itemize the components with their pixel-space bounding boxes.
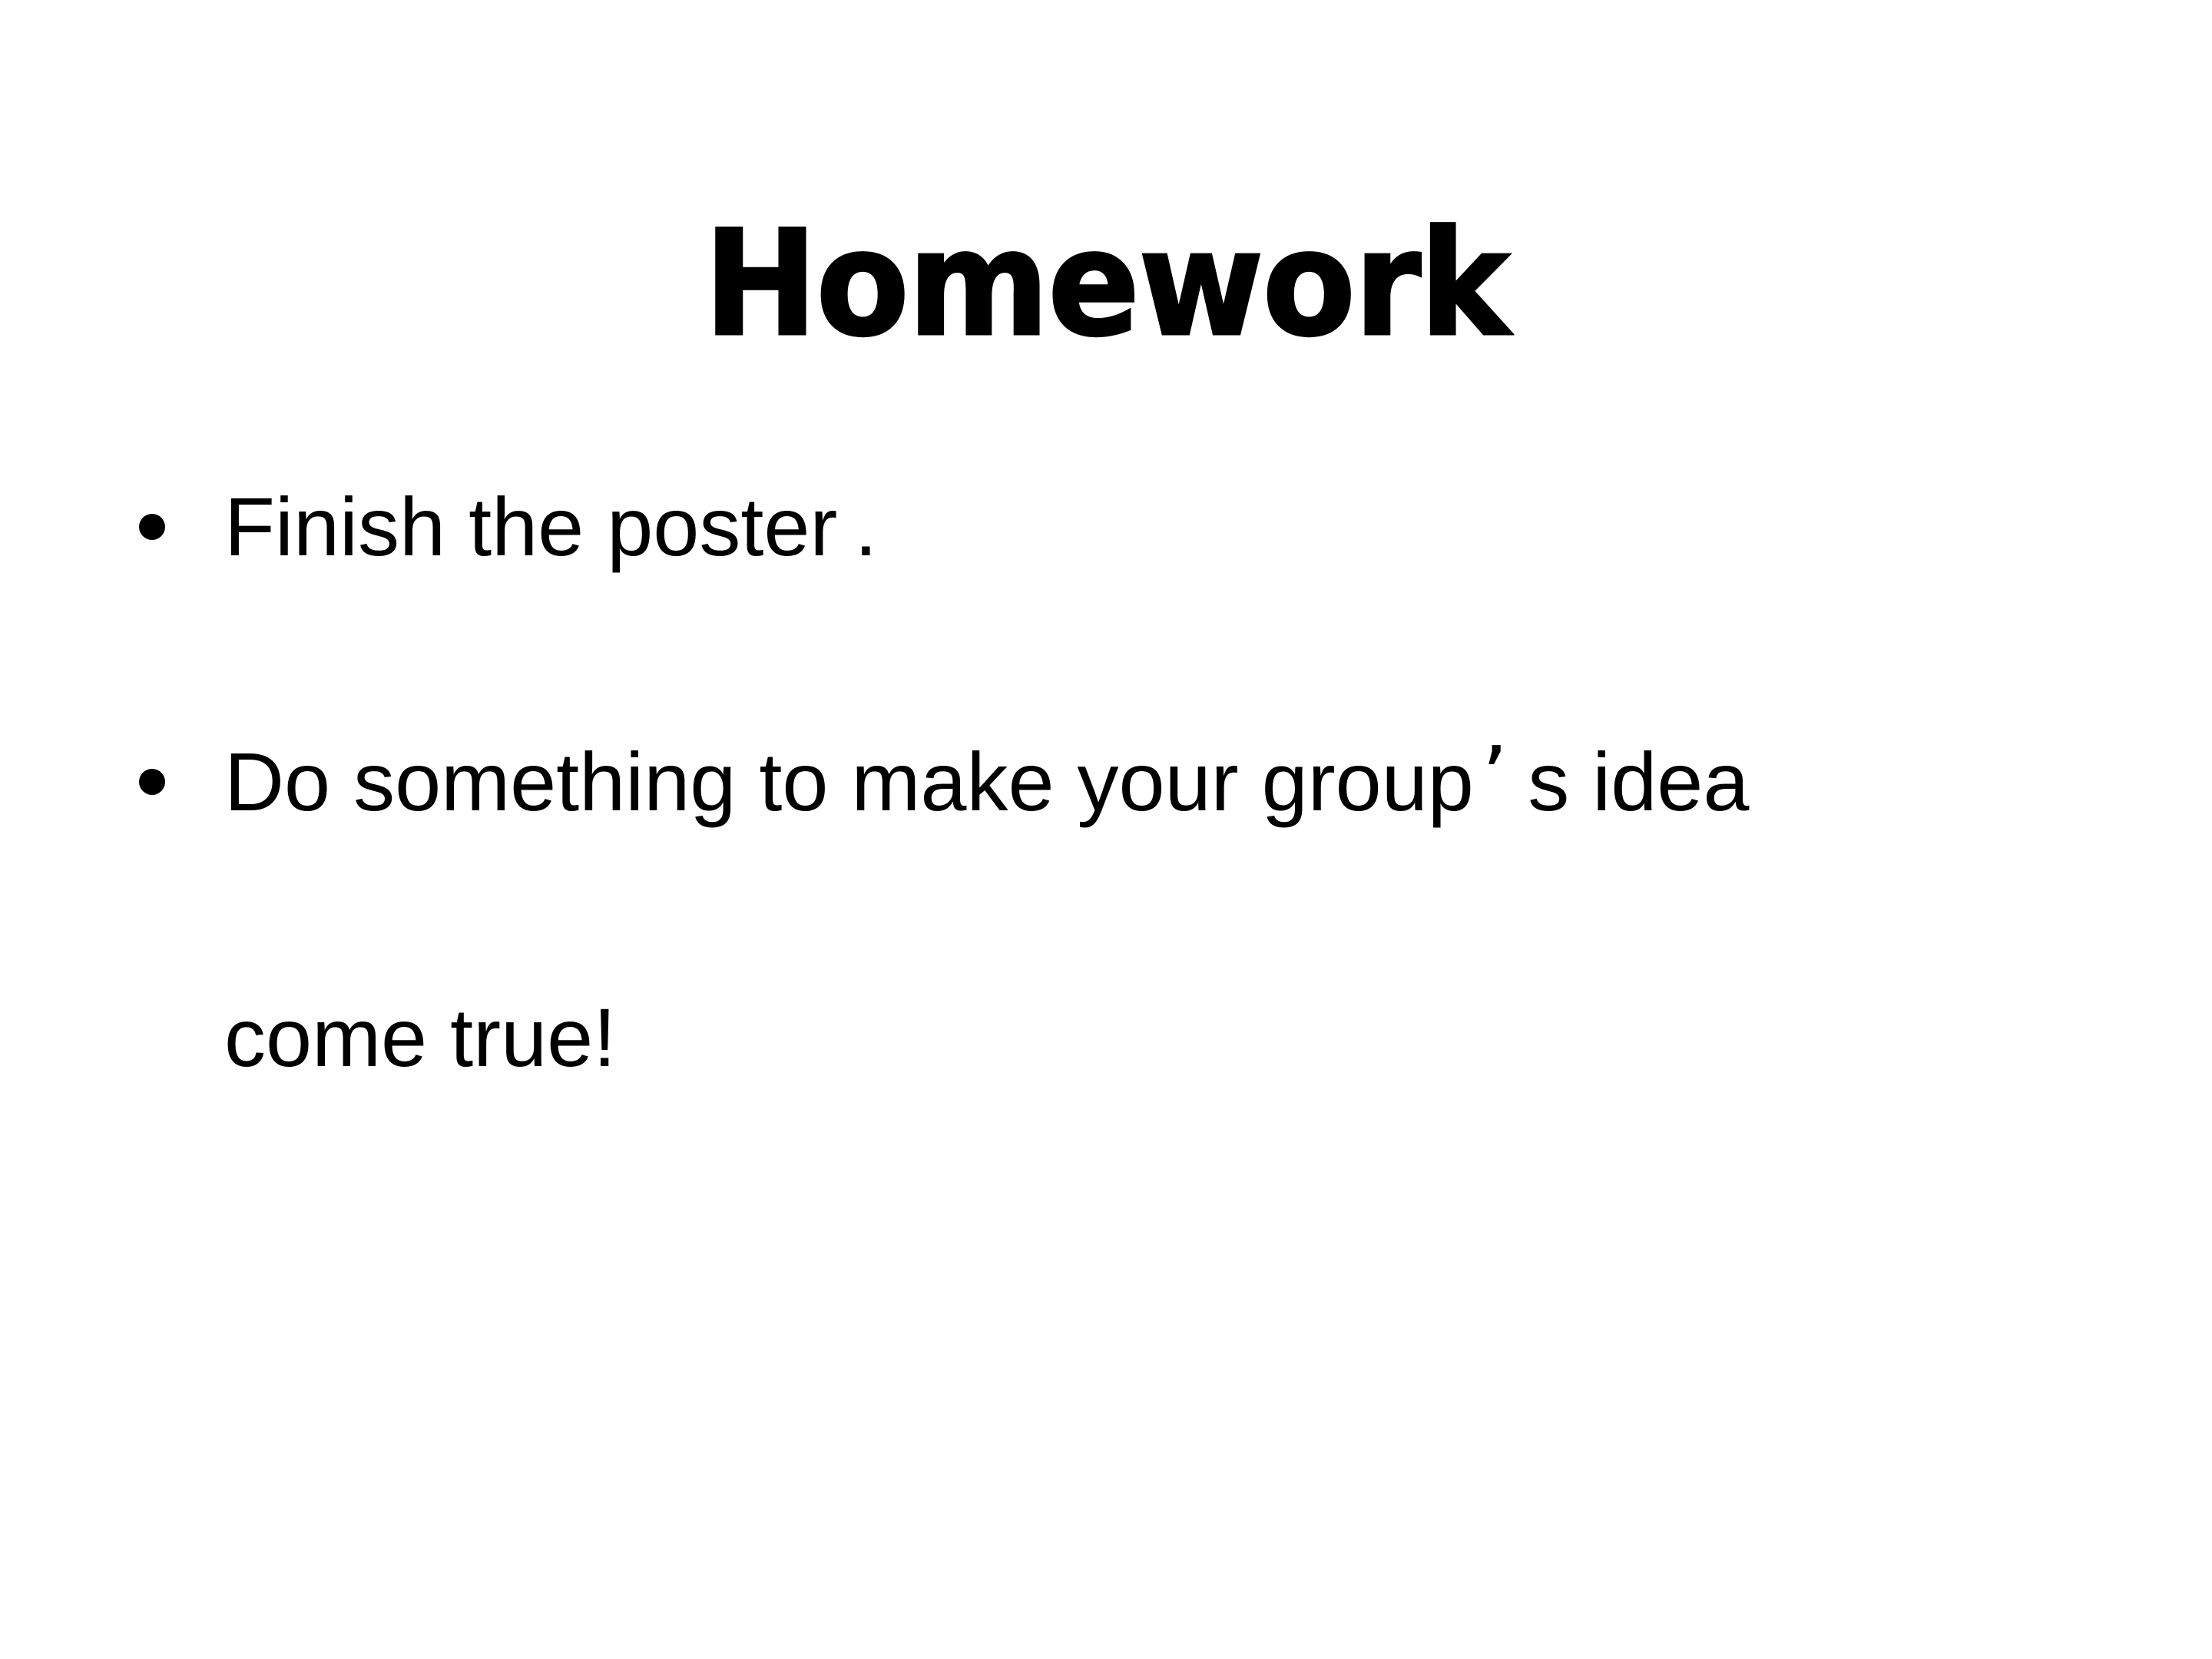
list-item-continuation: come true!: [0, 910, 2212, 1165]
list-item-period: .: [854, 480, 877, 573]
presentation-slide: Homework Finish the poster. Do something…: [0, 0, 2212, 1659]
list-item-text: Do something to make your group’s idea: [224, 735, 1749, 828]
list-item: Do something to make your group’s idea: [0, 654, 2212, 910]
list-item-text: come true!: [224, 991, 616, 1084]
apostrophe-glyph: ’: [1474, 730, 1528, 826]
list-item-text-part: Do something to make your group: [224, 735, 1474, 828]
list-item: Finish the poster.: [0, 399, 2212, 654]
content-placeholder: Finish the poster. Do something to make …: [0, 399, 2212, 1165]
list-item-text: Finish the poster.: [224, 480, 877, 573]
list-item-text-part: s idea: [1528, 735, 1749, 828]
bullet-dot-icon: [139, 654, 165, 909]
page-title: Homework: [704, 211, 1508, 357]
list-item-text-part: Finish the poster: [224, 480, 837, 573]
bullet-dot-icon: [139, 399, 165, 654]
